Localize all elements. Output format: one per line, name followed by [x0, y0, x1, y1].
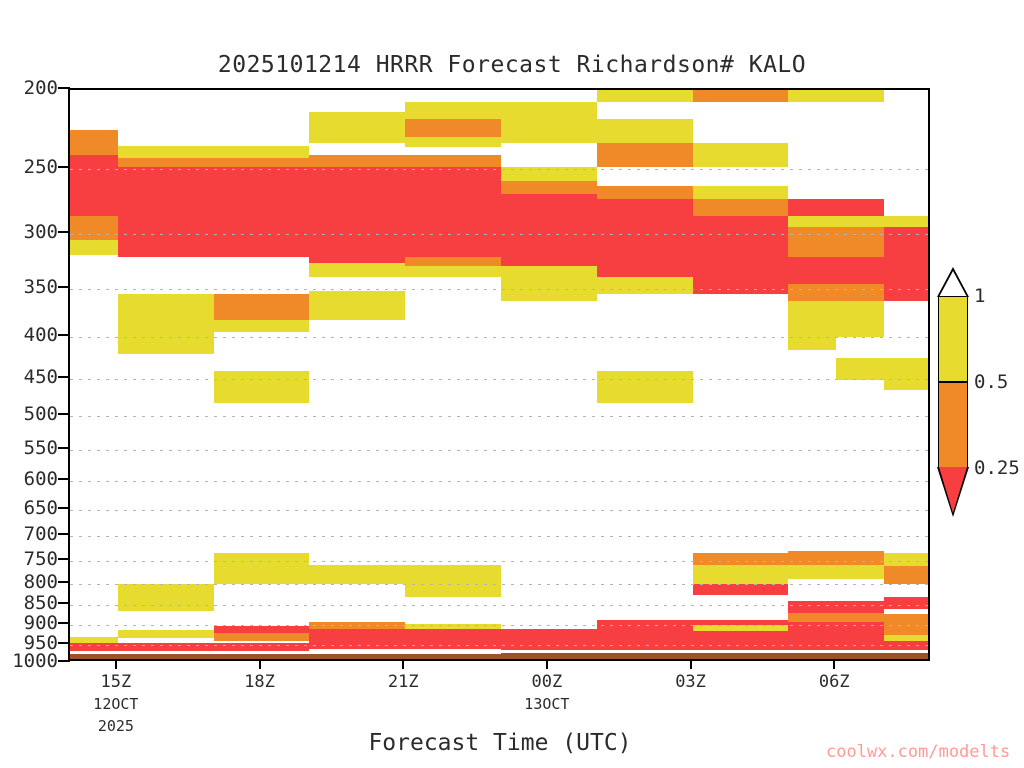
terrain-surface-line — [501, 650, 930, 653]
x-tick-label: 00Z — [532, 672, 563, 692]
y-tick-label: 700 — [0, 523, 58, 545]
y-tick-label: 1000 — [0, 650, 58, 672]
colorbar-label-1: 1 — [974, 285, 985, 307]
y-tick-label: 450 — [0, 366, 58, 388]
colorbar-label-025: 0.25 — [974, 457, 1020, 479]
x-tick-mark — [115, 661, 117, 669]
x-tick-label: 15Z — [101, 672, 132, 692]
chart-canvas: 2025101214 HRRR Forecast Richardson# KAL… — [0, 0, 1024, 768]
colorbar: 1 0.5 0.25 — [938, 296, 968, 468]
colorbar-arrow-down-fill — [939, 467, 967, 513]
colorbar-label-05: 0.5 — [974, 371, 1008, 393]
chart-title: 2025101214 HRRR Forecast Richardson# KAL… — [0, 52, 1024, 78]
x-tick-mark — [546, 661, 548, 669]
y-tick-label: 500 — [0, 403, 58, 425]
terrain-block — [70, 654, 501, 661]
y-tick-label: 750 — [0, 548, 58, 570]
colorbar-segment-orange — [938, 382, 968, 468]
y-tick-label: 550 — [0, 437, 58, 459]
y-tick-label: 250 — [0, 156, 58, 178]
x-tick-mark — [690, 661, 692, 669]
y-tick-label: 850 — [0, 592, 58, 614]
x-tick-label: 06Z — [819, 672, 850, 692]
x-tick-mark — [259, 661, 261, 669]
terrain-surface-line — [70, 651, 501, 654]
y-tick-label: 200 — [0, 77, 58, 99]
y-tick-label: 300 — [0, 221, 58, 243]
x-tick-label: 18Z — [244, 672, 275, 692]
plot-area — [68, 88, 930, 661]
y-tick-label: 800 — [0, 571, 58, 593]
x-tick-mark — [833, 661, 835, 669]
x-tick-label: 03Z — [675, 672, 706, 692]
terrain-fill — [70, 90, 928, 659]
x-tick-sublabel: 13OCT — [524, 695, 569, 713]
y-tick-label: 350 — [0, 276, 58, 298]
x-tick-label: 21Z — [388, 672, 419, 692]
x-tick-sublabel: 12OCT — [93, 695, 138, 713]
x-tick-mark — [402, 661, 404, 669]
colorbar-segment-yellow — [938, 296, 968, 382]
colorbar-arrow-up-fill — [939, 271, 967, 297]
y-tick-label: 400 — [0, 324, 58, 346]
watermark: coolwx.com/modelts — [826, 742, 1010, 762]
y-tick-label: 600 — [0, 468, 58, 490]
y-tick-label: 650 — [0, 497, 58, 519]
terrain-block — [501, 653, 930, 661]
